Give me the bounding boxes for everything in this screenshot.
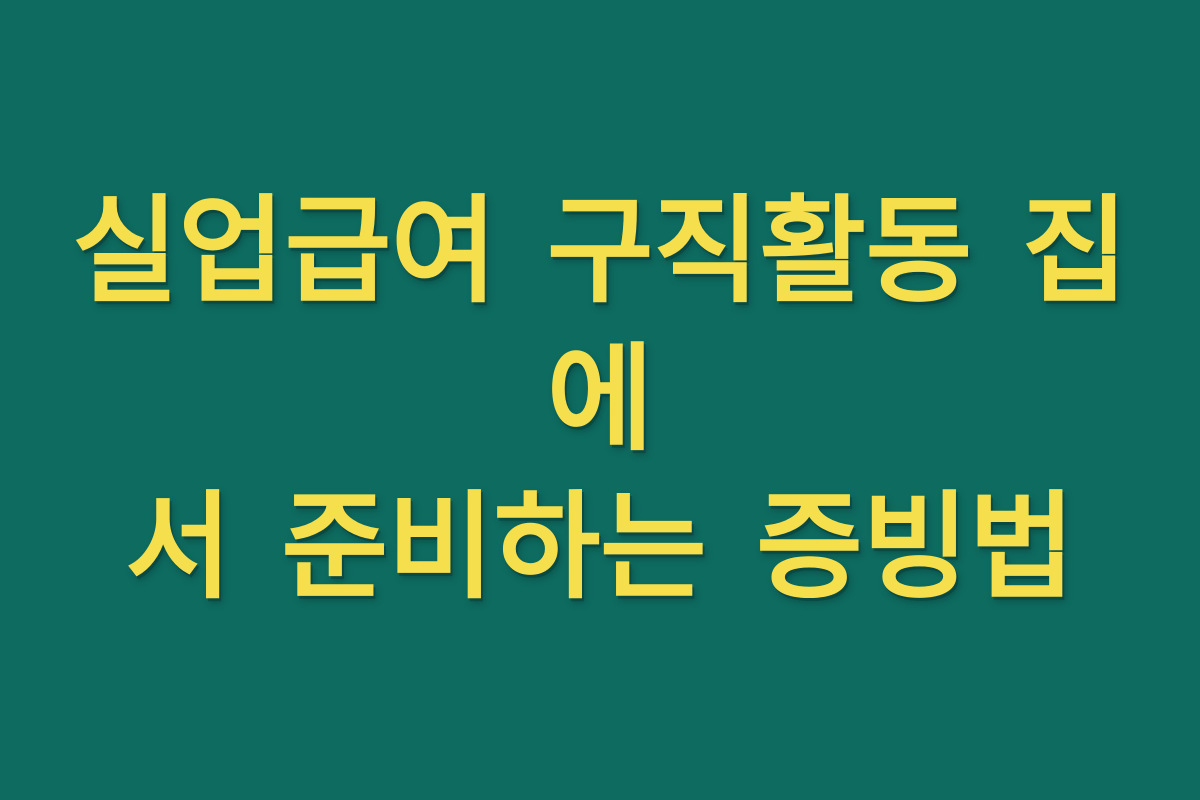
headline-line-2: 서 준비하는 증빙법 [70, 474, 1130, 622]
headline-line-1: 실업급여 구직활동 집에 [70, 178, 1130, 474]
title-card: 실업급여 구직활동 집에 서 준비하는 증빙법 [0, 0, 1200, 800]
headline: 실업급여 구직활동 집에 서 준비하는 증빙법 [70, 178, 1130, 622]
